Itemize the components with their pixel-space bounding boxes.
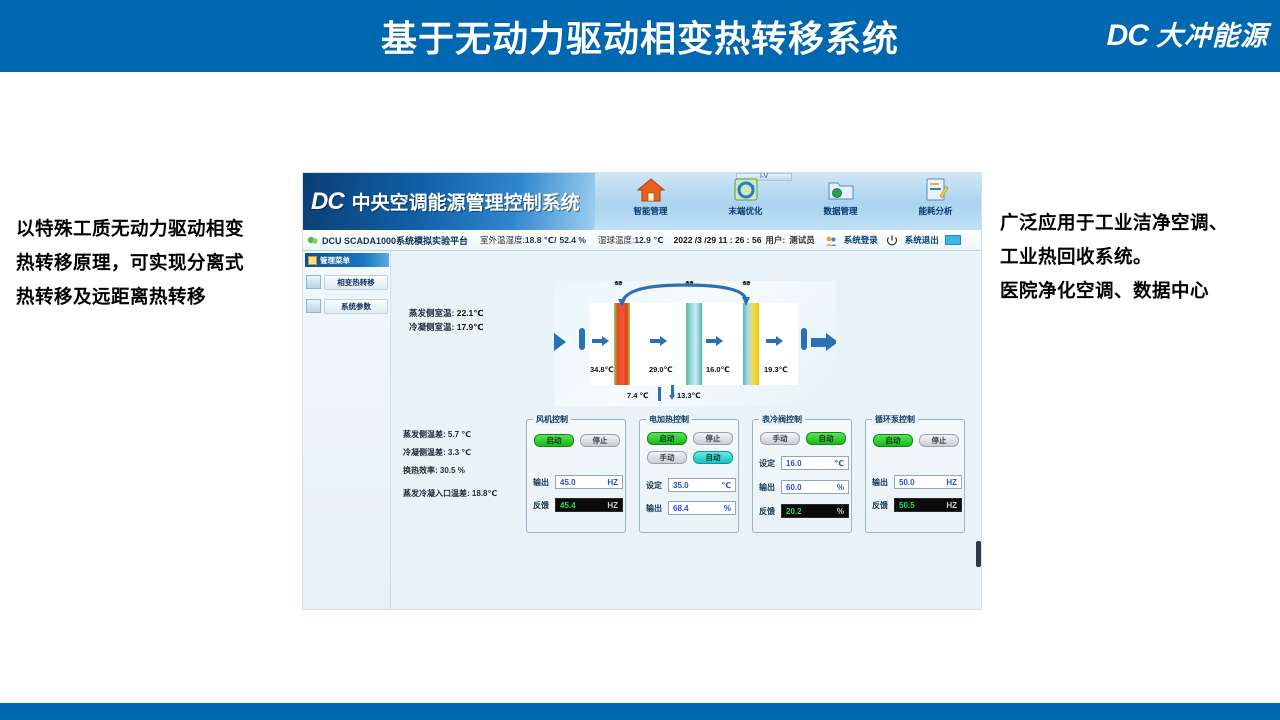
- field-value: 68.4: [673, 504, 689, 513]
- stat-value: 30.5 %: [440, 466, 465, 475]
- status-badge: [945, 235, 961, 245]
- valve-feedback-field: 20.2 %: [781, 504, 849, 518]
- sidebar-header: 管理菜单: [305, 253, 389, 267]
- field-label: 输出: [533, 477, 555, 488]
- field-unit: %: [837, 483, 844, 492]
- nav-label: 智能管理: [611, 205, 691, 217]
- company-logo: DC 大冲能源: [1107, 14, 1268, 58]
- scada-screenshot: DC 中央空调能源管理控制系统 I-V 智能管理 末端优化: [302, 172, 982, 610]
- outdoor-humidity-value: 52.4 %: [559, 235, 585, 245]
- heater-stop-button[interactable]: 停止: [693, 432, 733, 445]
- stat-cond-delta: 冷凝侧温差: 3.3 ℃: [403, 447, 523, 458]
- refrigerant-loop-pipe: [604, 281, 764, 307]
- air-temp-2: 29.0℃: [649, 365, 673, 374]
- liquid-temp-2: 13.3℃: [677, 391, 701, 400]
- stat-value: 18.8℃: [472, 489, 497, 498]
- field-unit: HZ: [607, 478, 618, 487]
- logo-name: 大冲能源: [1156, 23, 1268, 50]
- field-label: 反馈: [759, 506, 781, 517]
- refresh-icon: [731, 176, 761, 204]
- nav-label: 能耗分析: [896, 205, 976, 217]
- slide-footer-bar: [0, 703, 1280, 720]
- caption-left-line-1: 以特殊工质无动力驱动相变: [16, 212, 288, 246]
- field-value: 20.2: [786, 507, 802, 516]
- fan-start-button[interactable]: 启动: [534, 434, 574, 447]
- caption-right: 广泛应用于工业洁净空调、 工业热回收系统。 医院净化空调、数据中心: [1000, 206, 1278, 308]
- caption-right-line-2: 工业热回收系统。: [1000, 240, 1278, 274]
- process-diagram: 蒸发器 表冷器 冷凝器 34.8℃: [554, 281, 836, 406]
- caption-right-line-3: 医院净化空调、数据中心: [1000, 274, 1278, 308]
- cond-room-value: 17.9℃: [457, 322, 484, 332]
- field-value: 35.0: [673, 481, 689, 490]
- field-unit: ℃: [721, 481, 731, 490]
- scada-logo-mark: DC: [311, 188, 344, 216]
- sidebar-item-label: 系统参数: [324, 299, 388, 314]
- stat-label: 蒸发冷凝入口温差:: [403, 489, 470, 498]
- system-datetime: 2022 /3 /29 11 : 26 : 56: [674, 235, 762, 245]
- inlet-cap: [579, 328, 585, 350]
- users-icon: [825, 235, 837, 246]
- slide-header-bar: 基于无动力驱动相变热转移系统 DC 大冲能源: [0, 0, 1280, 72]
- heater-manual-button[interactable]: 手动: [647, 451, 687, 464]
- home-icon: [636, 176, 666, 204]
- liquid-line-up: [658, 387, 661, 401]
- evap-room-readout: 蒸发侧室温: 22.1℃: [409, 307, 484, 319]
- heater-button-row-1: 启动 停止: [647, 432, 733, 445]
- nav-item-energy-analysis[interactable]: 能耗分析: [896, 176, 976, 217]
- user-name: 测试员: [789, 234, 815, 246]
- heater-output-field[interactable]: 68.4 %: [668, 501, 736, 515]
- heater-button-row-2: 手动 自动: [647, 451, 733, 464]
- pump-start-button[interactable]: 启动: [873, 434, 913, 447]
- stat-evap-delta: 蒸发侧温差: 5.7 ℃: [403, 429, 523, 440]
- panel-title: 表冷阀控制: [759, 414, 805, 425]
- panel-title: 电加热控制: [646, 414, 692, 425]
- field-label: 反馈: [872, 500, 894, 511]
- field-label: 反馈: [533, 500, 555, 511]
- outdoor-label: 室外温湿度:: [480, 234, 525, 246]
- field-unit: HZ: [946, 478, 957, 487]
- air-temp-4: 19.3℃: [764, 365, 788, 374]
- fan-stop-button[interactable]: 停止: [580, 434, 620, 447]
- stat-inlet-delta: 蒸发冷凝入口温差: 18.8℃: [403, 488, 523, 499]
- surface-cooler-coil: [686, 303, 702, 385]
- power-icon: [886, 235, 898, 246]
- valve-auto-button[interactable]: 自动: [806, 432, 846, 445]
- scada-status-bar: DCU SCADA1000系统模拟实验平台 室外温湿度: 18.8 ℃/ 52.…: [303, 230, 982, 251]
- fan-output-field[interactable]: 45.0 HZ: [555, 475, 623, 489]
- valve-setpoint-row: 设定 16.0 ℃: [759, 456, 849, 470]
- system-login-link[interactable]: 系统登录: [844, 234, 878, 246]
- field-unit: %: [837, 507, 844, 516]
- logo-mark: DC: [1107, 21, 1148, 51]
- field-value: 50.0: [899, 478, 915, 487]
- flow-arrow-2: [660, 336, 667, 346]
- panel-title: 循环泵控制: [872, 414, 918, 425]
- field-unit: %: [724, 504, 731, 513]
- stat-label: 换热效率:: [403, 466, 438, 475]
- inlet-air-arrow: [554, 333, 566, 351]
- field-label: 输出: [646, 503, 668, 514]
- liquid-temp-1: 7.4 ℃: [627, 391, 649, 400]
- nav-item-intelligent-management[interactable]: 智能管理: [611, 176, 691, 217]
- menu-icon: [308, 256, 317, 265]
- system-logout-link[interactable]: 系统退出: [905, 234, 939, 246]
- scada-sidebar: 管理菜单 相变热转移 系统参数: [303, 251, 391, 610]
- outlet-cap: [801, 328, 807, 350]
- fan-feedback-field: 45.4 HZ: [555, 498, 623, 512]
- folder-icon: [826, 176, 856, 204]
- scada-top-band: DC 中央空调能源管理控制系统 I-V 智能管理 末端优化: [303, 173, 982, 230]
- flow-arrow-3: [716, 336, 723, 346]
- evaporator-coil: [614, 303, 630, 385]
- caption-left-line-2: 热转移原理，可实现分离式: [16, 246, 288, 280]
- fan-button-row: 启动 停止: [534, 434, 620, 447]
- wetbulb-value: 12.9 ℃: [634, 235, 663, 246]
- nav-label: 末端优化: [706, 205, 786, 217]
- caption-left-line-3: 热转移及远距离热转移: [16, 280, 288, 314]
- field-unit: HZ: [607, 501, 618, 510]
- cond-room-label: 冷凝侧室温:: [409, 322, 454, 332]
- stat-heat-efficiency: 换热效率: 30.5 %: [403, 465, 523, 476]
- panel-circulation-pump-control: 循环泵控制 启动 停止 输出 50.0 HZ 反馈 50.5 HZ: [865, 419, 965, 533]
- pump-output-row: 输出 50.0 HZ: [872, 475, 962, 489]
- caption-right-line-1: 广泛应用于工业洁净空调、: [1000, 206, 1278, 240]
- field-label: 设定: [646, 480, 668, 491]
- outlet-air-arrow: [826, 333, 836, 351]
- heater-setpoint-field[interactable]: 35.0 ℃: [668, 478, 736, 492]
- fan-output-row: 输出 45.0 HZ: [533, 475, 623, 489]
- valve-feedback-row: 反馈 20.2 %: [759, 504, 849, 518]
- page-title: 基于无动力驱动相变热转移系统: [0, 0, 1280, 72]
- wetbulb-label: 湿球温度:: [598, 234, 634, 246]
- field-label: 输出: [872, 477, 894, 488]
- air-temp-3: 16.0℃: [706, 365, 730, 374]
- field-value: 60.0: [786, 483, 802, 492]
- sidebar-item-label: 相变热转移: [324, 275, 388, 290]
- valve-output-field[interactable]: 60.0 %: [781, 480, 849, 494]
- evap-room-value: 22.1℃: [457, 308, 484, 318]
- pump-stop-button[interactable]: 停止: [919, 434, 959, 447]
- chart-icon: [306, 299, 321, 313]
- control-panels: 风机控制 启动 停止 输出 45.0 HZ 反馈 45.4 HZ: [526, 419, 976, 539]
- stat-label: 蒸发侧温差:: [403, 430, 446, 439]
- platform-name: DCU SCADA1000系统模拟实验平台: [322, 234, 468, 247]
- pump-output-field[interactable]: 50.0 HZ: [894, 475, 962, 489]
- pump-feedback-field: 50.5 HZ: [894, 498, 962, 512]
- panel-electric-heater-control: 电加热控制 启动 停止 手动 自动 设定 35.0 ℃ 输出: [639, 419, 739, 533]
- performance-stats: 蒸发侧温差: 5.7 ℃ 冷凝侧温差: 3.3 ℃ 换热效率: 30.5 % 蒸…: [403, 429, 523, 506]
- scada-canvas: 蒸发侧室温: 22.1℃ 冷凝侧室温: 17.9℃ 蒸发器 表冷器 冷凝器: [391, 251, 982, 610]
- stat-label: 冷凝侧温差:: [403, 448, 446, 457]
- scada-brand: DC 中央空调能源管理控制系统: [303, 173, 595, 230]
- panel-fan-control: 风机控制 启动 停止 输出 45.0 HZ 反馈 45.4 HZ: [526, 419, 626, 533]
- panel-cooling-valve-control: 表冷阀控制 手动 自动 设定 16.0 ℃ 输出 60.0 %: [752, 419, 852, 533]
- sidebar-item-phase-change[interactable]: 相变热转移: [306, 273, 388, 291]
- sidebar-item-system-params[interactable]: 系统参数: [306, 297, 388, 315]
- nav-item-data-management[interactable]: 数据管理: [801, 176, 881, 217]
- field-value: 45.0: [560, 478, 576, 487]
- field-unit: ℃: [834, 459, 844, 468]
- flow-arrow-4: [776, 336, 783, 346]
- flow-arrow-1: [602, 336, 609, 346]
- heater-auto-button[interactable]: 自动: [693, 451, 733, 464]
- field-label: 设定: [759, 458, 781, 469]
- valve-manual-button[interactable]: 手动: [760, 432, 800, 445]
- sidebar-header-label: 管理菜单: [320, 255, 350, 266]
- heater-setpoint-row: 设定 35.0 ℃: [646, 478, 736, 492]
- field-label: 输出: [759, 482, 781, 493]
- report-icon: [921, 176, 951, 204]
- valve-button-row: 手动 自动: [760, 432, 846, 445]
- pump-feedback-row: 反馈 50.5 HZ: [872, 498, 962, 512]
- chart-icon: [306, 275, 321, 289]
- leaf-icon: [307, 235, 319, 246]
- nav-item-terminal-optimization[interactable]: 末端优化: [706, 176, 786, 217]
- heater-start-button[interactable]: 启动: [647, 432, 687, 445]
- liquid-line-down-arrow: [669, 395, 675, 400]
- field-unit: HZ: [946, 501, 957, 510]
- condenser-coil: [743, 303, 759, 385]
- scada-app-title: 中央空调能源管理控制系统: [352, 188, 580, 215]
- outlet-air-arrow-tail: [811, 338, 827, 347]
- fan-feedback-row: 反馈 45.4 HZ: [533, 498, 623, 512]
- panel-title: 风机控制: [533, 414, 571, 425]
- air-temp-1: 34.8℃: [590, 365, 614, 374]
- evap-room-label: 蒸发侧室温:: [409, 308, 454, 318]
- heater-output-row: 输出 68.4 %: [646, 501, 736, 515]
- vertical-scrollbar[interactable]: [976, 541, 981, 567]
- pump-button-row: 启动 停止: [873, 434, 959, 447]
- scada-nav: 智能管理 末端优化 数据管理: [603, 176, 982, 228]
- valve-setpoint-field[interactable]: 16.0 ℃: [781, 456, 849, 470]
- field-value: 45.4: [560, 501, 576, 510]
- user-label: 用户:: [765, 234, 785, 246]
- nav-label: 数据管理: [801, 205, 881, 217]
- cond-room-readout: 冷凝侧室温: 17.9℃: [409, 321, 484, 333]
- stat-value: 5.7 ℃: [448, 430, 471, 439]
- stat-value: 3.3 ℃: [448, 448, 471, 457]
- outdoor-temp-value: 18.8 ℃/: [525, 235, 557, 246]
- field-value: 50.5: [899, 501, 915, 510]
- field-value: 16.0: [786, 459, 802, 468]
- valve-output-row: 输出 60.0 %: [759, 480, 849, 494]
- caption-left: 以特殊工质无动力驱动相变 热转移原理，可实现分离式 热转移及远距离热转移: [16, 212, 288, 314]
